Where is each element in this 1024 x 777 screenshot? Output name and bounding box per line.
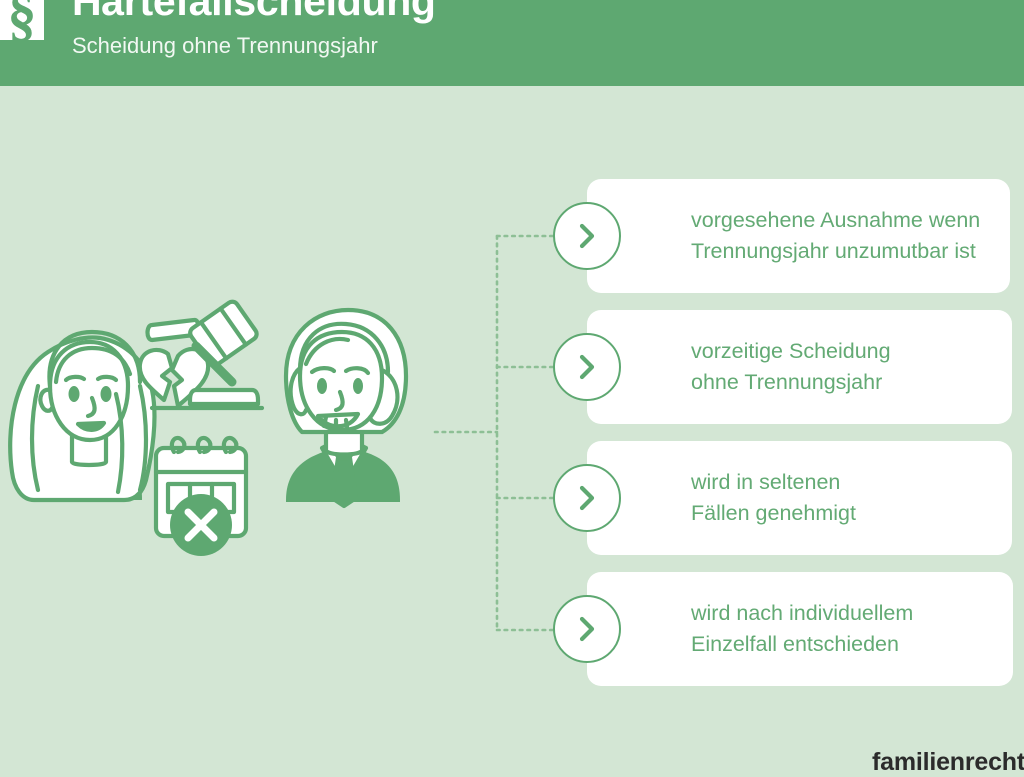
info-card-2[interactable]: vorzeitige Scheidung ohne Trennungsjahr bbox=[587, 310, 1012, 424]
paragraph-section-icon: § bbox=[8, 0, 37, 40]
chevron-right-icon bbox=[579, 223, 595, 249]
logo-box: § bbox=[0, 0, 44, 40]
divorce-illustration bbox=[0, 290, 430, 580]
info-card-4-text: wird nach individuellem Einzelfall entsc… bbox=[587, 598, 931, 659]
chevron-node-3[interactable] bbox=[553, 464, 621, 532]
chevron-right-icon bbox=[579, 616, 595, 642]
info-card-1-text: vorgesehene Ausnahme wenn Trennungsjahr … bbox=[587, 205, 998, 266]
chevron-node-4[interactable] bbox=[553, 595, 621, 663]
info-card-3-text: wird in seltenen Fällen genehmigt bbox=[587, 467, 874, 528]
info-card-3[interactable]: wird in seltenen Fällen genehmigt bbox=[587, 441, 1012, 555]
info-card-4[interactable]: wird nach individuellem Einzelfall entsc… bbox=[587, 572, 1013, 686]
page-subtitle: Scheidung ohne Trennungsjahr bbox=[72, 33, 378, 59]
page-title: Härtefallscheidung bbox=[72, 0, 436, 25]
chevron-right-icon bbox=[579, 354, 595, 380]
site-watermark: familienrecht bbox=[872, 748, 1024, 777]
chevron-right-icon bbox=[579, 485, 595, 511]
info-card-2-text: vorzeitige Scheidung ohne Trennungsjahr bbox=[587, 336, 909, 397]
chevron-node-2[interactable] bbox=[553, 333, 621, 401]
header-bar: § Härtefallscheidung Scheidung ohne Tren… bbox=[0, 0, 1024, 86]
info-card-1[interactable]: vorgesehene Ausnahme wenn Trennungsjahr … bbox=[587, 179, 1010, 293]
chevron-node-1[interactable] bbox=[553, 202, 621, 270]
